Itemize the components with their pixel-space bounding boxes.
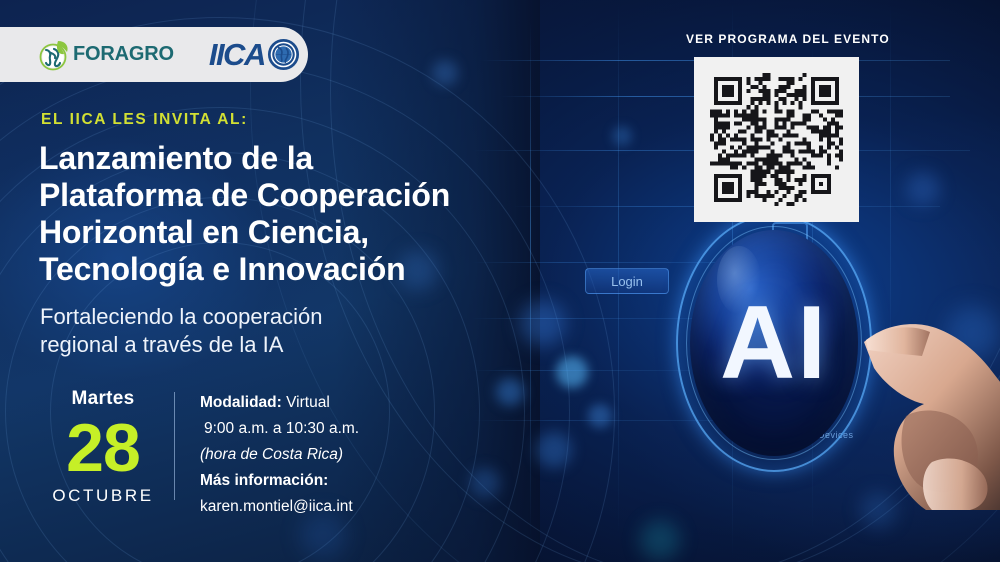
- qr-title: VER PROGRAMA DEL EVENTO: [686, 32, 890, 46]
- ai-sphere-label: AI: [676, 214, 872, 472]
- ai-sphere-artwork: AI: [676, 214, 872, 472]
- kicker-text: EL IICA LES INVITA AL:: [41, 111, 248, 129]
- modality-value: Virtual: [286, 394, 330, 411]
- headline-line: Lanzamiento de la: [39, 140, 509, 177]
- foragro-logo: FORAGRO: [38, 38, 174, 72]
- subtitle: Fortaleciendo la cooperación regional a …: [40, 303, 440, 359]
- event-details: Modalidad: Virtual 9:00 a.m. a 10:30 a.m…: [200, 390, 500, 520]
- detail-modality: Modalidad: Virtual: [200, 390, 500, 416]
- date-month: OCTUBRE: [36, 486, 170, 506]
- headline-line: Tecnología e Innovación: [39, 251, 509, 288]
- globe-leaf-icon: [38, 38, 72, 72]
- detail-email[interactable]: karen.montiel@iica.int: [200, 494, 500, 520]
- detail-more-info-label: Más información:: [200, 468, 500, 494]
- login-chip-artwork: Login: [585, 268, 669, 294]
- more-info-label: Más información:: [200, 472, 328, 489]
- qr-panel[interactable]: [694, 57, 859, 222]
- qr-code-icon[interactable]: [710, 73, 843, 206]
- iica-seal-icon: [267, 38, 300, 71]
- iica-logo: IICA: [209, 37, 300, 73]
- event-date: Martes 28 OCTUBRE: [36, 388, 170, 506]
- modality-label: Modalidad:: [200, 394, 282, 411]
- login-chip-label: Login: [611, 274, 643, 289]
- event-banner: Login Devices AI: [0, 0, 1000, 562]
- date-day-of-week: Martes: [36, 388, 170, 410]
- vertical-divider: [174, 392, 175, 500]
- subtitle-line: Fortaleciendo la cooperación: [40, 303, 440, 331]
- headline-line: Horizontal en Ciencia,: [39, 214, 509, 251]
- date-day-number: 28: [36, 412, 170, 484]
- foragro-wordmark: FORAGRO: [73, 43, 174, 66]
- detail-timezone: (hora de Costa Rica): [200, 442, 500, 468]
- subtitle-line: regional a través de la IA: [40, 331, 440, 359]
- headline-line: Plataforma de Cooperación: [39, 177, 509, 214]
- detail-time: 9:00 a.m. a 10:30 a.m.: [200, 416, 500, 442]
- iica-wordmark: IICA: [209, 37, 265, 73]
- page-title: Lanzamiento de la Plataforma de Cooperac…: [39, 140, 509, 288]
- logo-bar: FORAGRO IICA: [0, 27, 308, 82]
